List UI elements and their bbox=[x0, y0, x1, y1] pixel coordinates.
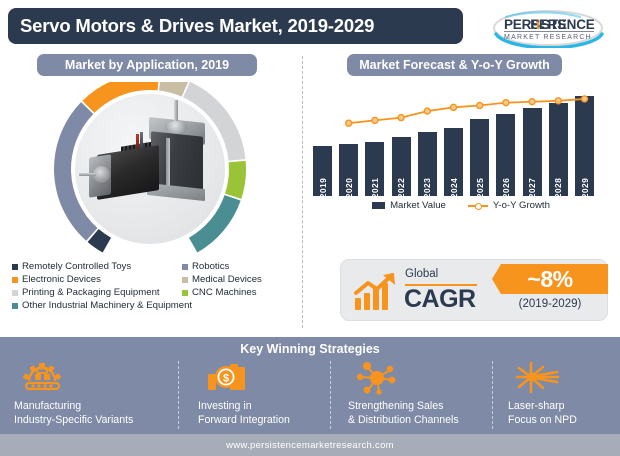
strategy-manufacturing: Manufacturing Industry-Specific Variants bbox=[14, 361, 133, 431]
legend-item-medical-devices: Medical Devices bbox=[182, 274, 262, 285]
page-title: Servo Motors & Drives Market, 2019-2029 bbox=[8, 15, 374, 37]
line-marker bbox=[503, 100, 509, 106]
cagr-value: ~8% bbox=[527, 266, 572, 293]
bar-category-label: 2021 bbox=[370, 178, 380, 199]
svg-text:$: $ bbox=[223, 373, 229, 385]
market-forecast-bar-chart: 2019202020212022202320242025202620272028… bbox=[311, 84, 611, 196]
strategy-separator bbox=[330, 361, 331, 429]
bar: 2020 bbox=[339, 144, 358, 196]
legend-label: Other Industrial Machinery & Equipment bbox=[22, 300, 192, 311]
footer-url: www.persistencemarketresearch.com bbox=[226, 440, 394, 451]
growth-chart-arrow-icon bbox=[353, 272, 397, 312]
legend-swatch bbox=[12, 290, 18, 296]
cagr-period: (2019-2029) bbox=[492, 298, 608, 310]
svg-text:PERS: PERS bbox=[504, 17, 540, 32]
bar-category-label: 2029 bbox=[580, 178, 590, 199]
line-marker bbox=[529, 99, 535, 105]
line-marker bbox=[424, 108, 430, 114]
legend-label: Medical Devices bbox=[192, 274, 262, 285]
legend-item-market-value: Market Value bbox=[372, 200, 446, 211]
bar-chart-legend: Market Value Y-o-Y Growth bbox=[311, 200, 611, 211]
line-marker bbox=[477, 102, 483, 108]
legend-label: Printing & Packaging Equipment bbox=[22, 287, 160, 298]
legend-label: Y-o-Y Growth bbox=[493, 200, 550, 211]
bar-category-label: 2027 bbox=[527, 178, 537, 199]
key-winning-strategies-section: Key Winning Strategies bbox=[0, 337, 620, 434]
cagr-word: CAGR bbox=[404, 285, 476, 314]
donut-segment bbox=[225, 161, 246, 199]
legend-swatch bbox=[12, 303, 18, 309]
factory-gear-icon bbox=[20, 361, 66, 395]
legend-label: Remotely Controlled Toys bbox=[22, 261, 131, 272]
svg-text:i: i bbox=[536, 17, 540, 32]
legend-swatch-bar bbox=[372, 202, 385, 209]
bar: 2027 bbox=[523, 108, 542, 196]
bar-category-label: 2023 bbox=[422, 178, 432, 199]
bar-category-label: 2019 bbox=[318, 178, 328, 199]
strategy-line-2: & Distribution Channels bbox=[348, 413, 459, 427]
bar-category-label: 2022 bbox=[396, 178, 406, 199]
line-marker bbox=[346, 120, 352, 126]
bar: 2028 bbox=[549, 103, 568, 196]
legend-swatch-line bbox=[468, 202, 488, 209]
line-marker bbox=[451, 104, 457, 110]
legend-item-printing-packaging-equipment: Printing & Packaging Equipment bbox=[12, 287, 182, 298]
strategy-line-2: Industry-Specific Variants bbox=[14, 413, 133, 427]
legend-row: Electronic Devices Medical Devices bbox=[12, 274, 302, 285]
strategy-line-1: Strengthening Sales bbox=[348, 399, 443, 413]
donut-legend: Remotely Controlled Toys Robotics Electr… bbox=[12, 261, 302, 313]
legend-row: Printing & Packaging Equipment CNC Machi… bbox=[12, 287, 302, 298]
bar: 2024 bbox=[444, 128, 463, 196]
bar-category-label: 2028 bbox=[553, 178, 563, 199]
strategy-separator bbox=[492, 361, 493, 429]
persistence-market-research-logo: PERS x PERS i STENCE MARKET RESEARCH bbox=[484, 8, 612, 48]
panel-divider bbox=[302, 56, 303, 328]
legend-item-cnc-machines: CNC Machines bbox=[182, 287, 257, 298]
strategy-line-1: Investing in bbox=[198, 399, 252, 413]
bar-category-label: 2026 bbox=[501, 178, 511, 199]
legend-swatch bbox=[182, 264, 188, 270]
legend-swatch bbox=[182, 277, 188, 283]
legend-label: Robotics bbox=[192, 261, 229, 272]
legend-swatch bbox=[182, 290, 188, 296]
strategy-laser-sharp: Laser-sharp Focus on NPD bbox=[508, 361, 577, 431]
section-title: Key Winning Strategies bbox=[0, 342, 620, 356]
left-panel-title: Market by Application, 2019 bbox=[37, 54, 257, 76]
legend-swatch bbox=[12, 264, 18, 270]
header-bar: Servo Motors & Drives Market, 2019-2029 bbox=[8, 8, 463, 44]
legend-item-yoy-growth: Y-o-Y Growth bbox=[468, 200, 550, 211]
cagr-callout: Global CAGR ~8% (2019-2029) bbox=[340, 259, 608, 321]
svg-text:MARKET RESEARCH: MARKET RESEARCH bbox=[504, 34, 592, 41]
bar: 2019 bbox=[313, 146, 332, 196]
servo-motors-photo bbox=[75, 94, 225, 244]
bar: 2022 bbox=[392, 137, 411, 196]
bar: 2023 bbox=[418, 132, 437, 196]
bar: 2029 bbox=[575, 96, 594, 196]
strategy-line-1: Laser-sharp bbox=[508, 399, 565, 413]
laser-burst-icon bbox=[514, 361, 560, 395]
network-nodes-icon bbox=[354, 361, 400, 395]
bar: 2025 bbox=[470, 119, 489, 196]
legend-row: Other Industrial Machinery & Equipment bbox=[12, 300, 302, 311]
line-marker bbox=[372, 117, 378, 123]
bar-category-label: 2020 bbox=[344, 178, 354, 199]
legend-row: Remotely Controlled Toys Robotics bbox=[12, 261, 302, 272]
legend-item-other-industrial-machinery-equipment: Other Industrial Machinery & Equipment bbox=[12, 300, 192, 311]
infographic-root: Servo Motors & Drives Market, 2019-2029 … bbox=[0, 0, 620, 456]
strategy-line-2: Focus on NPD bbox=[508, 413, 577, 427]
legend-swatch bbox=[12, 277, 18, 283]
legend-item-robotics: Robotics bbox=[182, 261, 229, 272]
bar-category-label: 2024 bbox=[449, 178, 459, 199]
strategy-separator bbox=[178, 361, 179, 429]
footer-bar: www.persistencemarketresearch.com bbox=[0, 434, 620, 456]
strategy-line-2: Forward Integration bbox=[198, 413, 290, 427]
strategy-investing: $ Investing in Forward Integration bbox=[198, 361, 290, 431]
right-panel-title: Market Forecast & Y-o-Y Growth bbox=[347, 54, 562, 76]
legend-item-remotely-controlled-toys: Remotely Controlled Toys bbox=[12, 261, 182, 272]
line-marker bbox=[398, 115, 404, 121]
coins-dollar-icon: $ bbox=[204, 361, 250, 395]
cagr-global-label: Global bbox=[405, 268, 438, 280]
svg-text:STENCE: STENCE bbox=[541, 17, 595, 32]
bar: 2021 bbox=[365, 142, 384, 196]
strategy-strengthening-sales: Strengthening Sales & Distribution Chann… bbox=[348, 361, 459, 431]
strategy-line-1: Manufacturing bbox=[14, 399, 81, 413]
market-by-application-donut-chart bbox=[18, 82, 283, 257]
legend-label: Market Value bbox=[390, 200, 446, 211]
bar-category-label: 2025 bbox=[475, 178, 485, 199]
legend-item-electronic-devices: Electronic Devices bbox=[12, 274, 182, 285]
bar: 2026 bbox=[496, 114, 515, 196]
legend-label: Electronic Devices bbox=[22, 274, 101, 285]
cagr-value-flag: ~8% bbox=[492, 264, 608, 294]
legend-label: CNC Machines bbox=[192, 287, 257, 298]
